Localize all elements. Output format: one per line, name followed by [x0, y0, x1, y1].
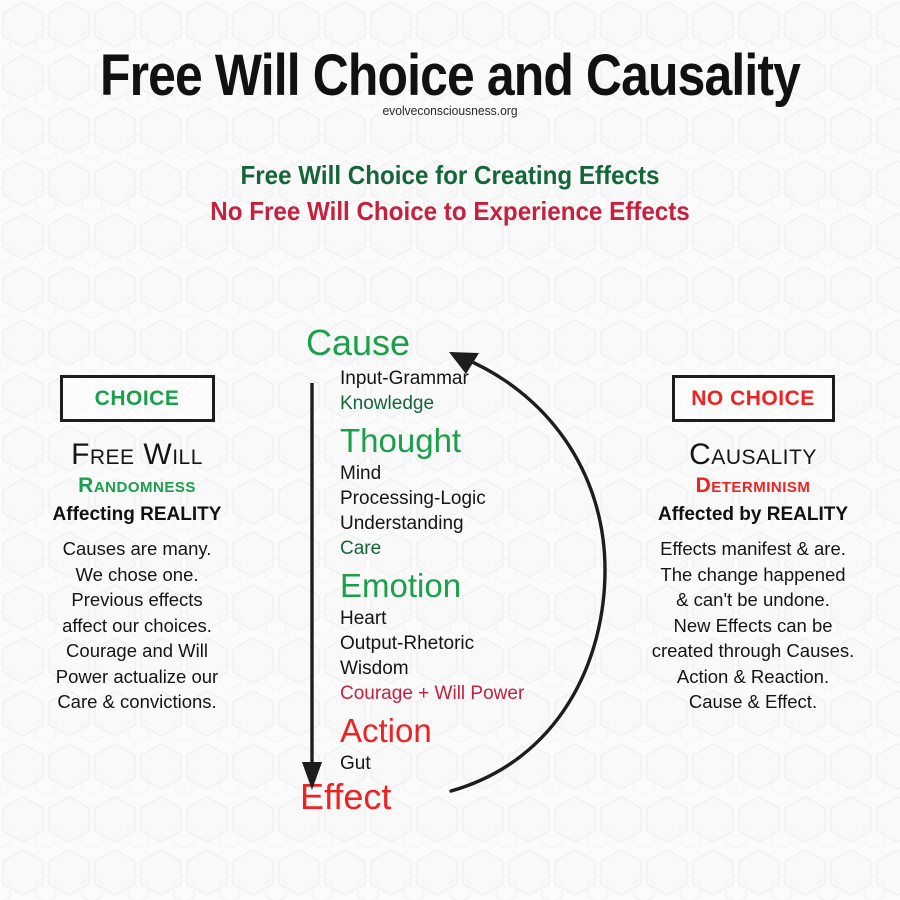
choice-badge: CHOICE	[60, 375, 215, 422]
left-column-body: Causes are many. We chose one. Previous …	[12, 536, 262, 715]
center-column-causality-chain: Cause Input-Grammar Knowledge Thought Mi…	[300, 322, 600, 818]
body-line: Courage and Will	[12, 638, 262, 664]
body-line: The change happened	[628, 562, 878, 588]
chain-item: Gut	[340, 751, 600, 776]
cause-label: Cause	[306, 322, 600, 364]
chain-list: Input-Grammar Knowledge Thought Mind Pro…	[340, 366, 600, 776]
chain-item: Input-Grammar	[340, 366, 600, 391]
body-line: Action & Reaction.	[628, 664, 878, 690]
chain-stage-emotion: Emotion	[340, 565, 600, 606]
right-column-body: Effects manifest & are. The change happe…	[628, 536, 878, 715]
chain-item: Mind	[340, 461, 600, 486]
chain-item: Wisdom	[340, 656, 600, 681]
effect-label: Effect	[300, 776, 600, 818]
subtitle-free-will: Free Will Choice for Creating Effects	[32, 160, 869, 191]
body-line: We chose one.	[12, 562, 262, 588]
attribution-text: evolveconsciousness.org	[32, 103, 869, 118]
affected-by-reality-label: Affected by REALITY	[628, 504, 878, 526]
body-line: & can't be undone.	[628, 587, 878, 613]
chain-item: Knowledge	[340, 391, 600, 416]
body-line: Effects manifest & are.	[628, 536, 878, 562]
affecting-reality-label: Affecting REALITY	[12, 504, 262, 526]
causality-heading: Causality	[628, 438, 878, 472]
body-line: affect our choices.	[12, 613, 262, 639]
free-will-heading: Free Will	[12, 438, 262, 472]
subtitle-no-free-will: No Free Will Choice to Experience Effect…	[32, 196, 869, 227]
chain-item: Heart	[340, 606, 600, 631]
body-line: Care & convictions.	[12, 689, 262, 715]
chain-item: Courage + Will Power	[340, 681, 600, 706]
right-column-no-choice: NO CHOICE Causality Determinism Affected…	[628, 375, 878, 715]
chain-item: Understanding	[340, 511, 600, 536]
chain-stage-action: Action	[340, 710, 600, 751]
left-column-choice: CHOICE Free Will Randomness Affecting RE…	[12, 375, 262, 715]
body-line: Previous effects	[12, 587, 262, 613]
body-line: Cause & Effect.	[628, 689, 878, 715]
body-line: Causes are many.	[12, 536, 262, 562]
body-line: New Effects can be	[628, 613, 878, 639]
page-title: Free Will Choice and Causality	[63, 42, 837, 109]
randomness-subheading: Randomness	[12, 474, 262, 498]
chain-item: Care	[340, 536, 600, 561]
no-choice-badge: NO CHOICE	[672, 375, 835, 422]
chain-item: Processing-Logic	[340, 486, 600, 511]
chain-stage-thought: Thought	[340, 420, 600, 461]
infographic-poster: Free Will Choice and Causality evolvecon…	[0, 0, 900, 900]
body-line: Power actualize our	[12, 664, 262, 690]
determinism-subheading: Determinism	[628, 474, 878, 498]
body-line: created through Causes.	[628, 638, 878, 664]
chain-item: Output-Rhetoric	[340, 631, 600, 656]
